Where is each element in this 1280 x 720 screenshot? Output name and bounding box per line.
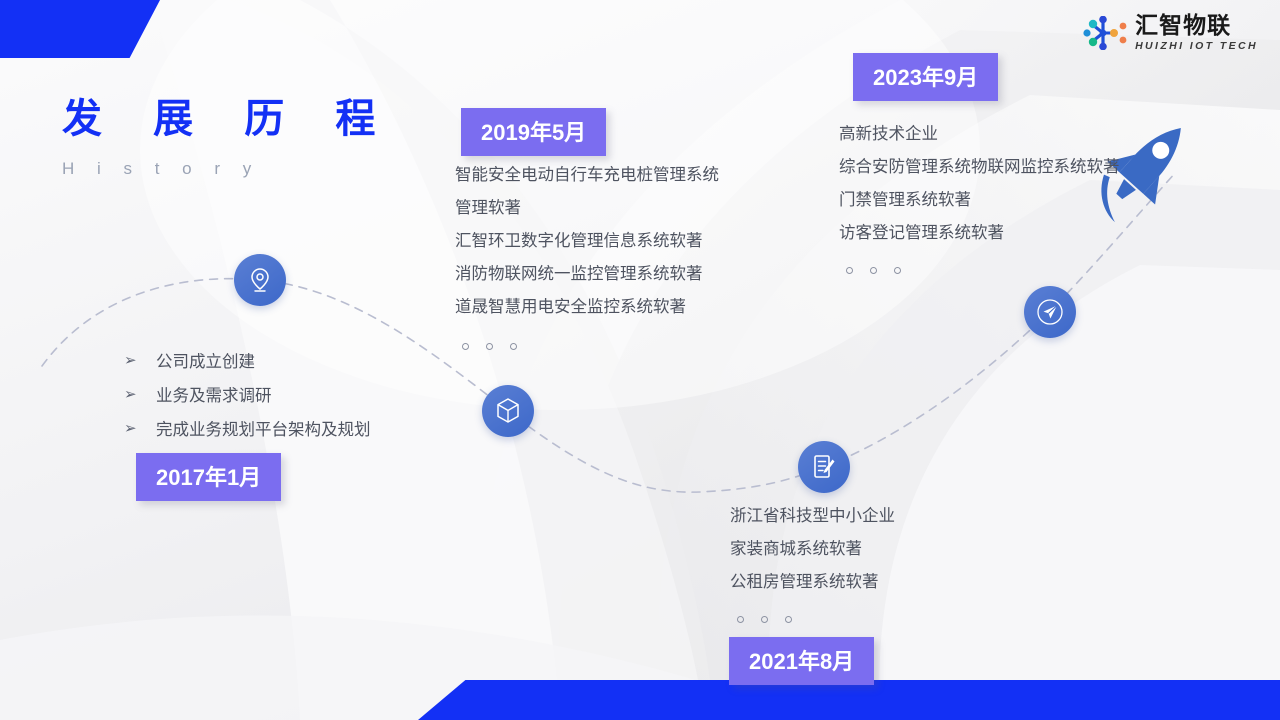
milestone-line: 访客登记管理系统软著 bbox=[839, 217, 1120, 250]
chevron-bullet-icon: ➢ bbox=[124, 419, 156, 437]
title-en: H i s t o r y bbox=[62, 159, 395, 179]
molecule-icon bbox=[1083, 16, 1127, 50]
page-title: 发 展 历 程 H i s t o r y bbox=[62, 95, 395, 179]
list-item-label: 完成业务规划平台架构及规划 bbox=[156, 416, 371, 440]
milestone-2023-lines: 高新技术企业 综合安防管理系统物联网监控系统软著 门禁管理系统软著 访客登记管理… bbox=[839, 118, 1120, 250]
timeline-node-2023[interactable] bbox=[1024, 286, 1076, 338]
milestone-line: 高新技术企业 bbox=[839, 118, 1120, 151]
milestone-line: 消防物联网统一监控管理系统软著 bbox=[455, 258, 719, 291]
date-badge-2019: 2019年5月 bbox=[461, 108, 606, 156]
milestone-line: 家装商城系统软著 bbox=[730, 533, 895, 566]
chevron-bullet-icon: ➢ bbox=[124, 385, 156, 403]
bottom-right-accent-shape bbox=[418, 680, 1280, 720]
milestone-line: 道晟智慧用电安全监控系统软著 bbox=[455, 291, 719, 324]
list-item: ➢ 完成业务规划平台架构及规划 bbox=[124, 411, 371, 445]
milestone-line: 公租房管理系统软著 bbox=[730, 566, 895, 599]
ellipsis-dots-2019 bbox=[462, 343, 517, 350]
slide-canvas: 汇智物联 HUIZHI IOT TECH 发 展 历 程 H i s t o r… bbox=[0, 0, 1280, 720]
timeline-node-2021[interactable] bbox=[798, 441, 850, 493]
title-cn: 发 展 历 程 bbox=[62, 95, 395, 143]
list-item: ➢ 业务及需求调研 bbox=[124, 377, 371, 411]
milestone-2021-lines: 浙江省科技型中小企业 家装商城系统软著 公租房管理系统软著 bbox=[730, 500, 895, 599]
milestone-line: 汇智环卫数字化管理信息系统软著 bbox=[455, 225, 719, 258]
document-edit-icon bbox=[811, 453, 837, 481]
cube-icon bbox=[495, 397, 521, 425]
milestone-2019-lines: 智能安全电动自行车充电桩管理系统 管理软著 汇智环卫数字化管理信息系统软著 消防… bbox=[455, 159, 719, 324]
timeline-node-2017[interactable] bbox=[234, 254, 286, 306]
date-badge-2017: 2017年1月 bbox=[136, 453, 281, 501]
milestone-line: 管理软著 bbox=[455, 192, 719, 225]
paper-plane-icon bbox=[1035, 297, 1065, 327]
timeline-node-2019[interactable] bbox=[482, 385, 534, 437]
list-item-label: 公司成立创建 bbox=[156, 348, 255, 372]
date-badge-2021: 2021年8月 bbox=[729, 637, 874, 685]
list-item-label: 业务及需求调研 bbox=[156, 382, 272, 406]
chevron-bullet-icon: ➢ bbox=[124, 351, 156, 369]
milestone-2017-bullets: ➢ 公司成立创建 ➢ 业务及需求调研 ➢ 完成业务规划平台架构及规划 bbox=[124, 343, 371, 445]
milestone-line: 门禁管理系统软著 bbox=[839, 184, 1120, 217]
date-badge-2023: 2023年9月 bbox=[853, 53, 998, 101]
logo-name-en: HUIZHI IOT TECH bbox=[1135, 41, 1258, 52]
ellipsis-dots-2021 bbox=[737, 616, 792, 623]
list-item: ➢ 公司成立创建 bbox=[124, 343, 371, 377]
top-left-accent-shape bbox=[0, 0, 160, 58]
company-logo: 汇智物联 HUIZHI IOT TECH bbox=[1083, 14, 1258, 52]
ellipsis-dots-2023 bbox=[846, 267, 901, 274]
milestone-line: 浙江省科技型中小企业 bbox=[730, 500, 895, 533]
map-pin-icon bbox=[248, 267, 272, 293]
logo-name-cn: 汇智物联 bbox=[1135, 14, 1258, 37]
milestone-line: 综合安防管理系统物联网监控系统软著 bbox=[839, 151, 1120, 184]
milestone-line: 智能安全电动自行车充电桩管理系统 bbox=[455, 159, 719, 192]
